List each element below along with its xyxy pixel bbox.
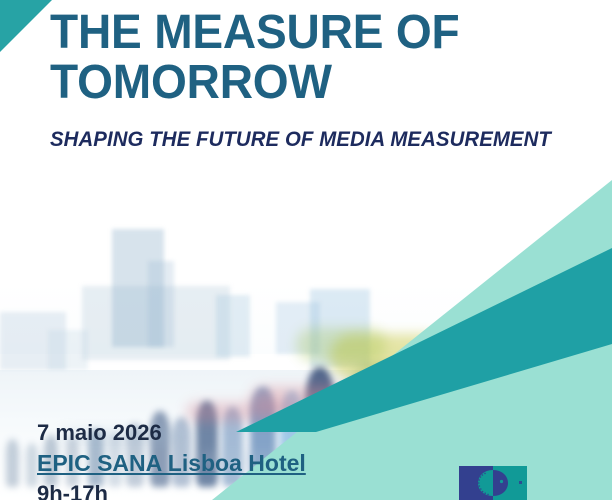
event-venue-link[interactable]: EPIC SANA Lisboa Hotel xyxy=(37,448,306,479)
motion-streak xyxy=(296,328,386,362)
event-time: 9h-17h xyxy=(37,479,306,500)
face-profile-logo xyxy=(459,466,527,500)
skyline-building xyxy=(216,295,250,357)
pedestrian xyxy=(6,439,19,487)
corner-triangle-shape xyxy=(0,0,52,52)
event-details: 7 maio 2026 EPIC SANA Lisboa Hotel 9h-17… xyxy=(37,418,306,500)
skyline-building xyxy=(148,261,174,347)
event-poster: THE MEASURE OF TOMORROW SHAPING THE FUTU… xyxy=(0,0,612,500)
event-date: 7 maio 2026 xyxy=(37,418,306,448)
page-subtitle: SHAPING THE FUTURE OF MEDIA MEASUREMENT xyxy=(50,128,551,152)
page-title: THE MEASURE OF TOMORROW xyxy=(50,8,463,108)
